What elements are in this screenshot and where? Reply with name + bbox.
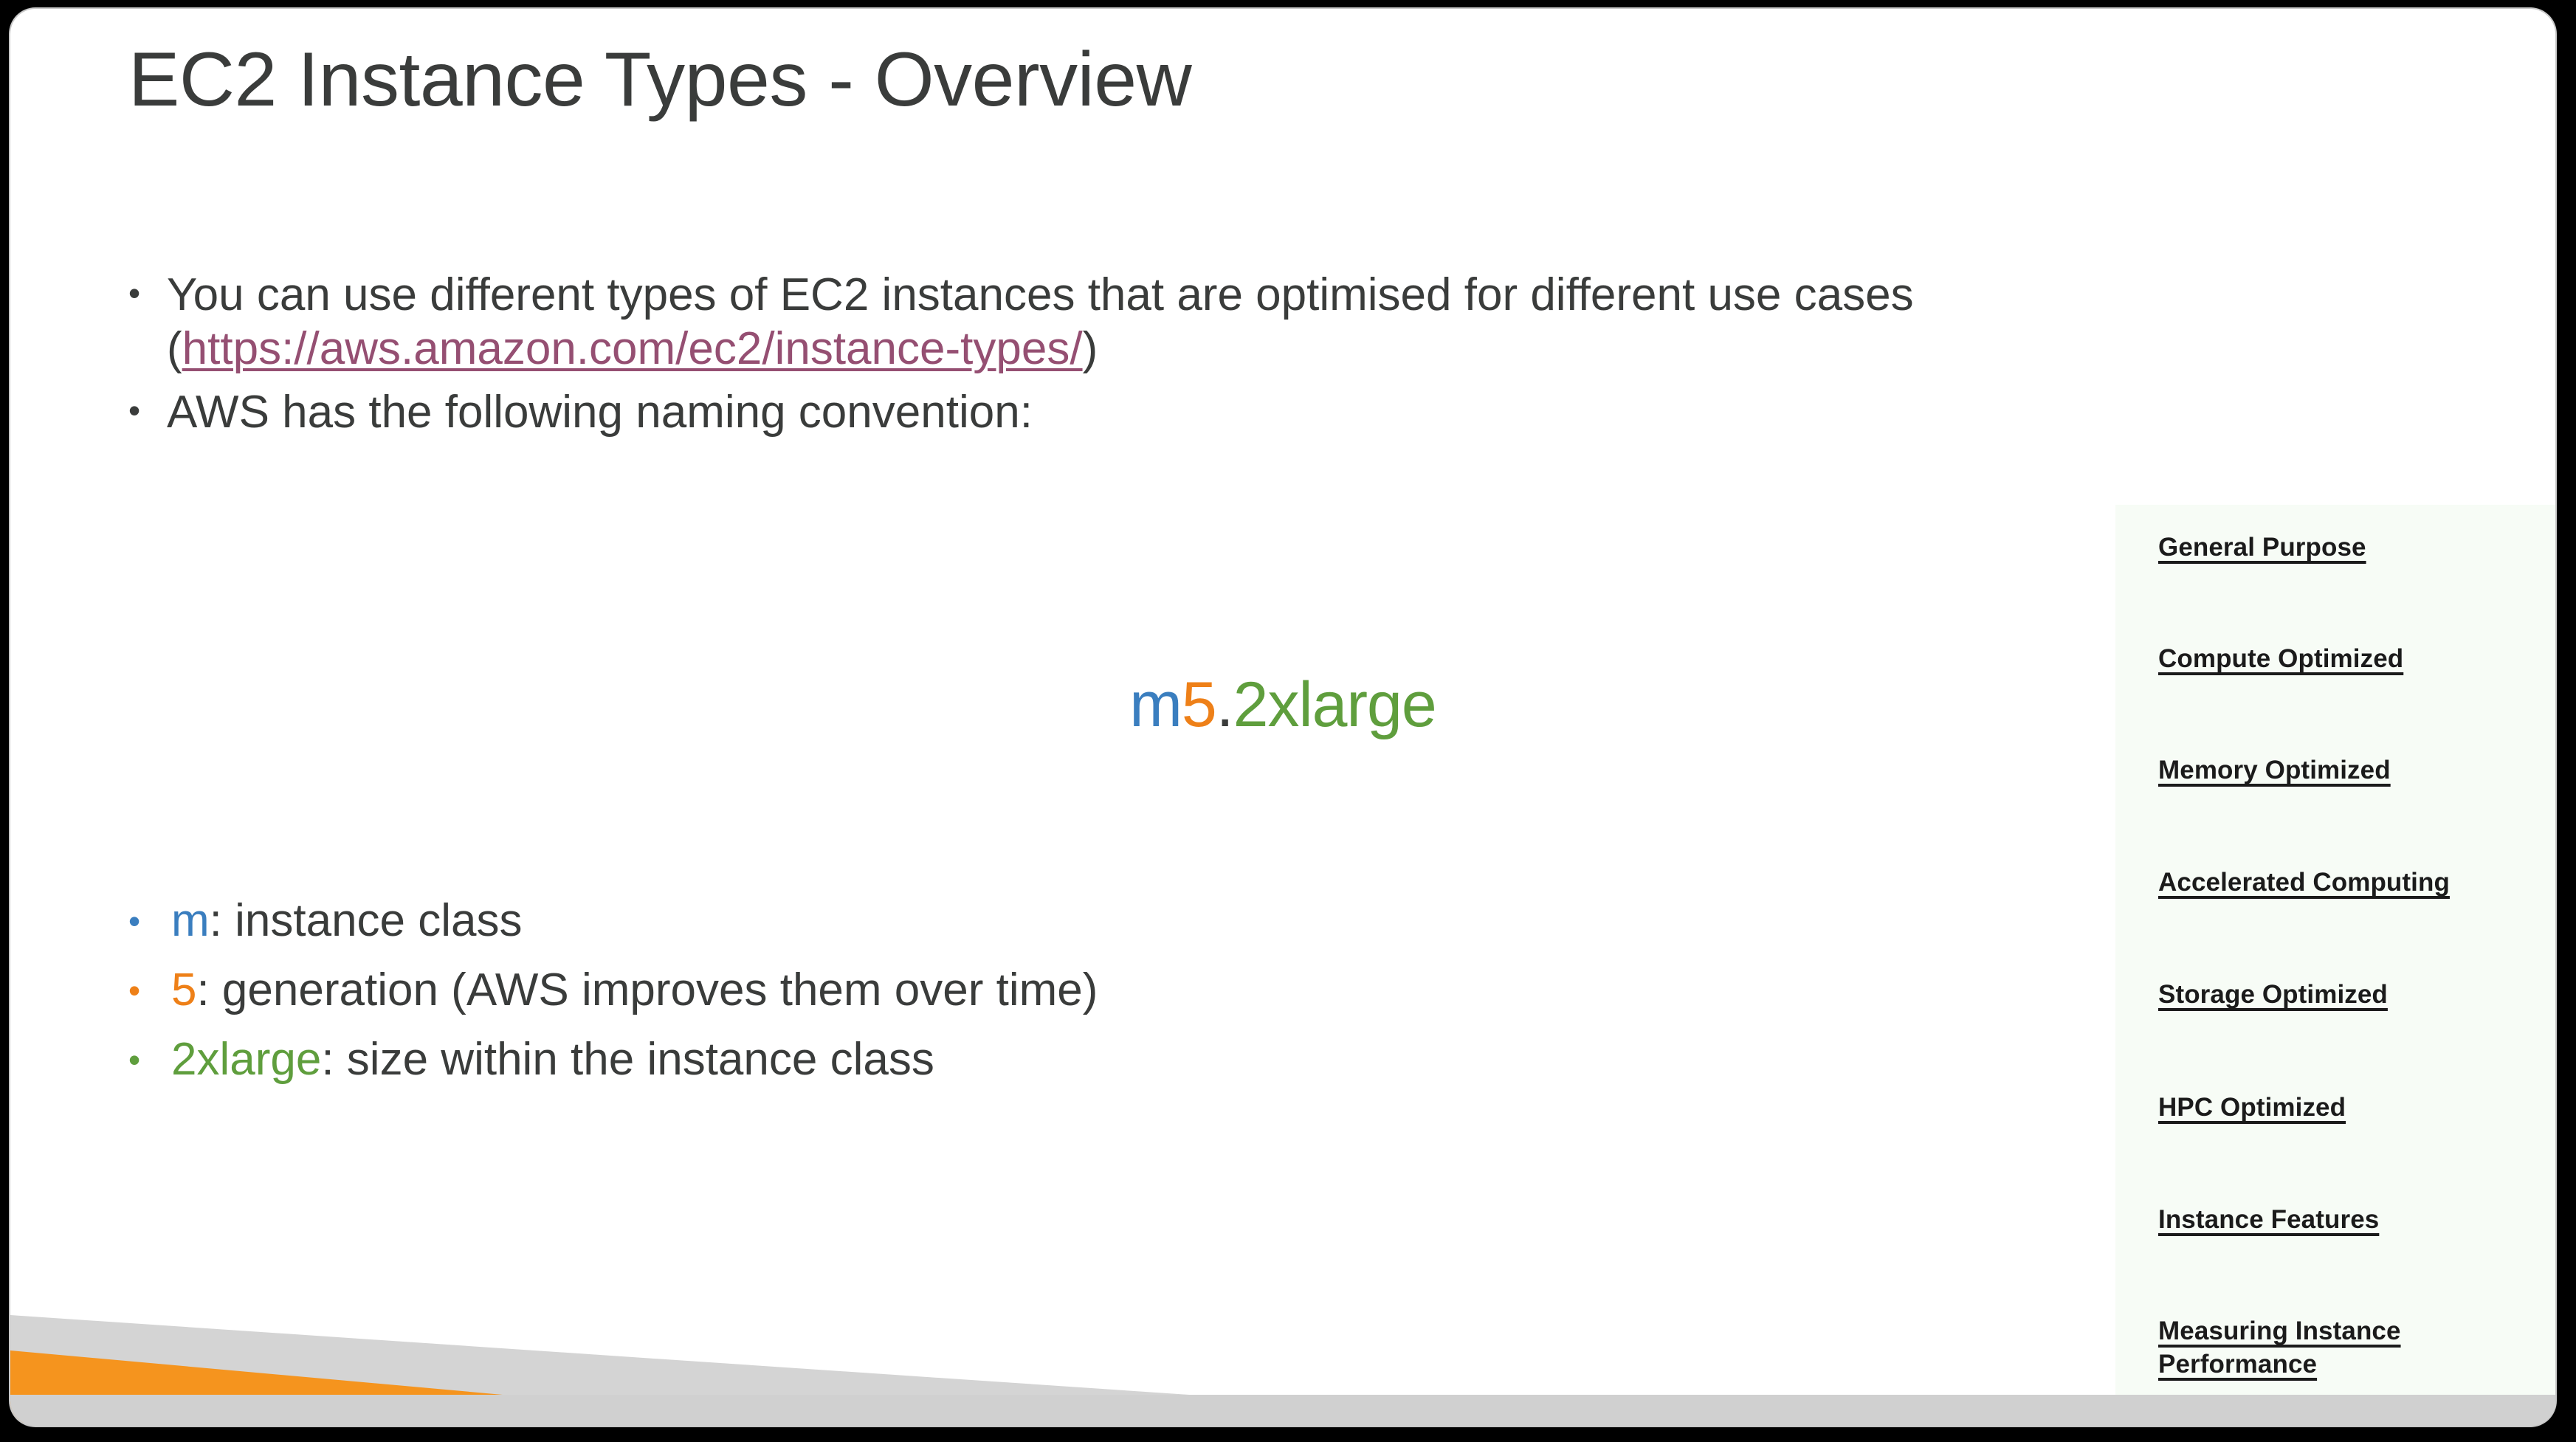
legend-text-generation: 5: generation (AWS improves them over ti…	[171, 967, 2048, 1013]
bullet-text-after-link: )	[1083, 323, 1098, 374]
sidebar-link-compute-optimized[interactable]: Compute Optimized	[2158, 643, 2542, 676]
instance-class-segment: m	[1129, 669, 1182, 740]
legend-description-size: : size within the instance class	[321, 1034, 934, 1085]
legend-item-size: • 2xlarge: size within the instance clas…	[128, 1037, 2048, 1083]
legend-description-generation: : generation (AWS improves them over tim…	[196, 965, 1098, 1015]
slide-bottom-strip	[10, 1395, 2555, 1426]
legend-description-instance-class: : instance class	[210, 895, 523, 946]
slide-canvas: EC2 Instance Types - Overview • You can …	[10, 9, 2555, 1423]
slide-frame: EC2 Instance Types - Overview • You can …	[10, 9, 2555, 1426]
sidebar-link-storage-optimized[interactable]: Storage Optimized	[2158, 979, 2542, 1012]
sidebar-link-general-purpose[interactable]: General Purpose	[2158, 531, 2542, 565]
legend-bullet-marker-green: •	[128, 1037, 171, 1083]
generation-segment: 5	[1182, 669, 1216, 740]
legend-bullet-marker-blue: •	[128, 898, 171, 944]
bullet-text-intro: You can use different types of EC2 insta…	[167, 269, 2372, 376]
size-segment: 2xlarge	[1233, 669, 1436, 740]
legend-text-size: 2xlarge: size within the instance class	[171, 1037, 2048, 1083]
sidebar-link-accelerated-computing[interactable]: Accelerated Computing	[2158, 866, 2542, 900]
bullet-item-intro: • You can use different types of EC2 ins…	[128, 269, 2372, 376]
instance-types-link[interactable]: https://aws.amazon.com/ec2/instance-type…	[182, 323, 1083, 374]
sidebar-link-hpc-optimized[interactable]: HPC Optimized	[2158, 1091, 2542, 1125]
naming-legend: • m: instance class • 5: generation (AWS…	[128, 898, 2048, 1106]
sidebar-link-measuring-instance-performance[interactable]: Measuring Instance Performance	[2158, 1315, 2542, 1381]
legend-item-generation: • 5: generation (AWS improves them over …	[128, 967, 2048, 1013]
sidebar-link-memory-optimized[interactable]: Memory Optimized	[2158, 754, 2542, 787]
legend-token-size: 2xlarge	[171, 1034, 321, 1085]
sidebar-link-instance-features[interactable]: Instance Features	[2158, 1204, 2542, 1237]
bullet-text-naming-convention: AWS has the following naming convention:	[167, 386, 2372, 440]
separator-dot: .	[1216, 669, 1233, 740]
instance-category-sidebar: General Purpose Compute Optimized Memory…	[2115, 505, 2555, 1399]
bullet-marker: •	[128, 386, 167, 435]
bullet-item-naming-convention: • AWS has the following naming conventio…	[128, 386, 2372, 440]
legend-text-instance-class: m: instance class	[171, 898, 2048, 944]
slide-body: • You can use different types of EC2 ins…	[128, 269, 2372, 440]
legend-item-instance-class: • m: instance class	[128, 898, 2048, 944]
bullet-marker: •	[128, 269, 167, 318]
legend-bullet-marker-orange: •	[128, 967, 171, 1013]
legend-token-instance-class: m	[171, 895, 210, 946]
legend-token-generation: 5	[171, 965, 196, 1015]
slide-title: EC2 Instance Types - Overview	[128, 37, 2048, 123]
